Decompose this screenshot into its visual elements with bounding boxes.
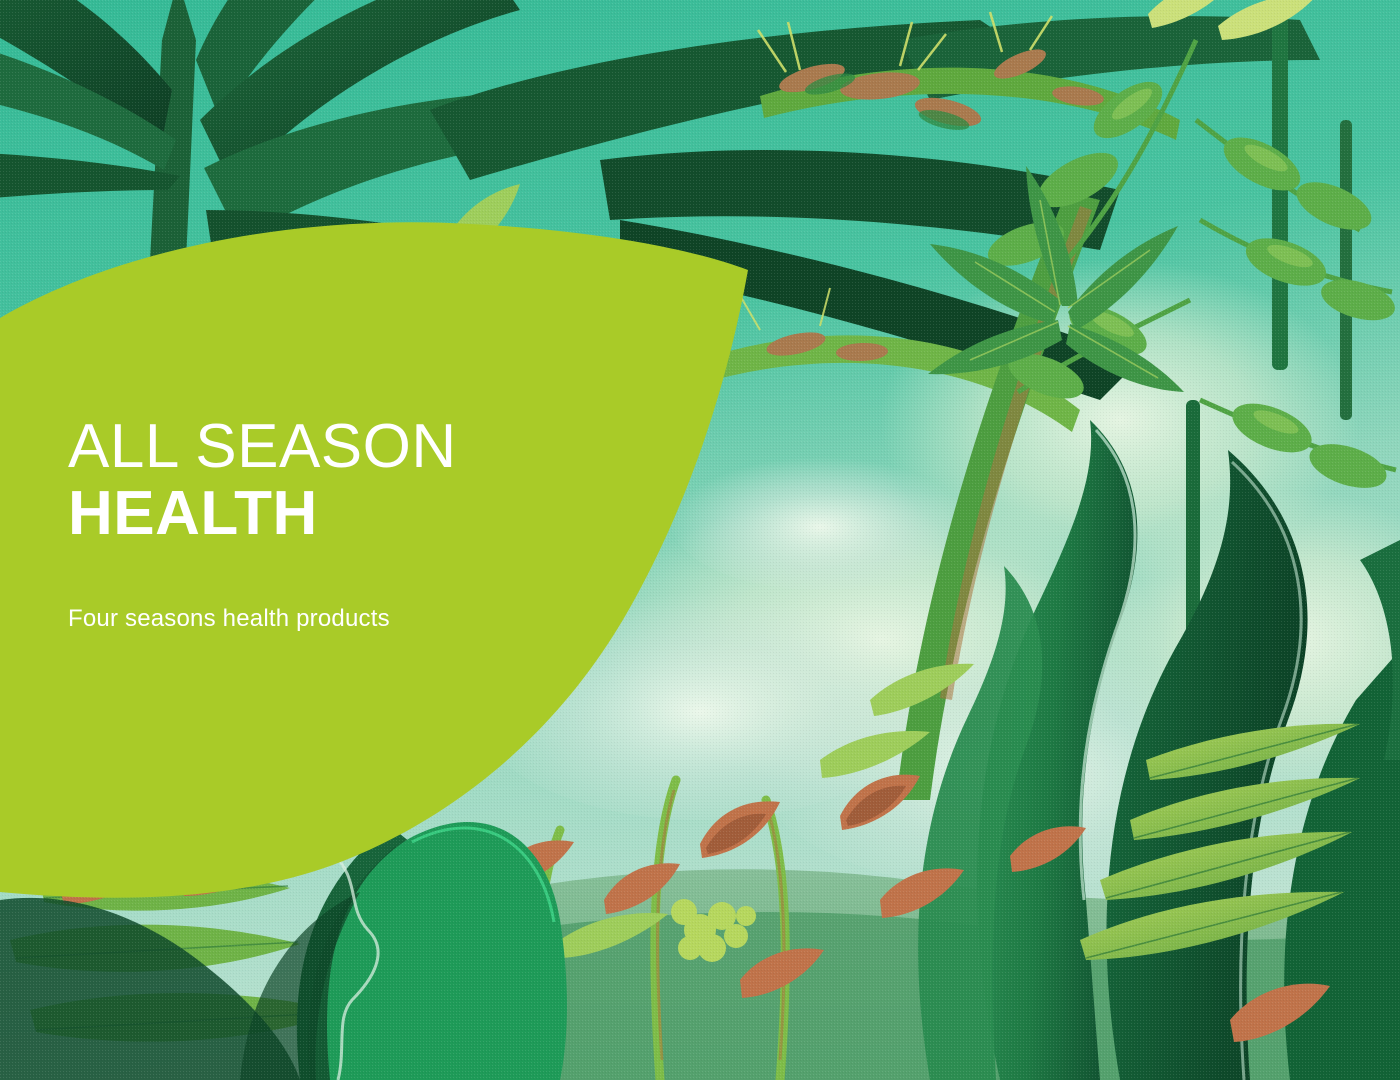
leaf-panel xyxy=(0,0,1400,1080)
banner-canvas: ALL SEASON HEALTH Four seasons health pr… xyxy=(0,0,1400,1080)
leaf-panel-shape xyxy=(0,222,748,897)
